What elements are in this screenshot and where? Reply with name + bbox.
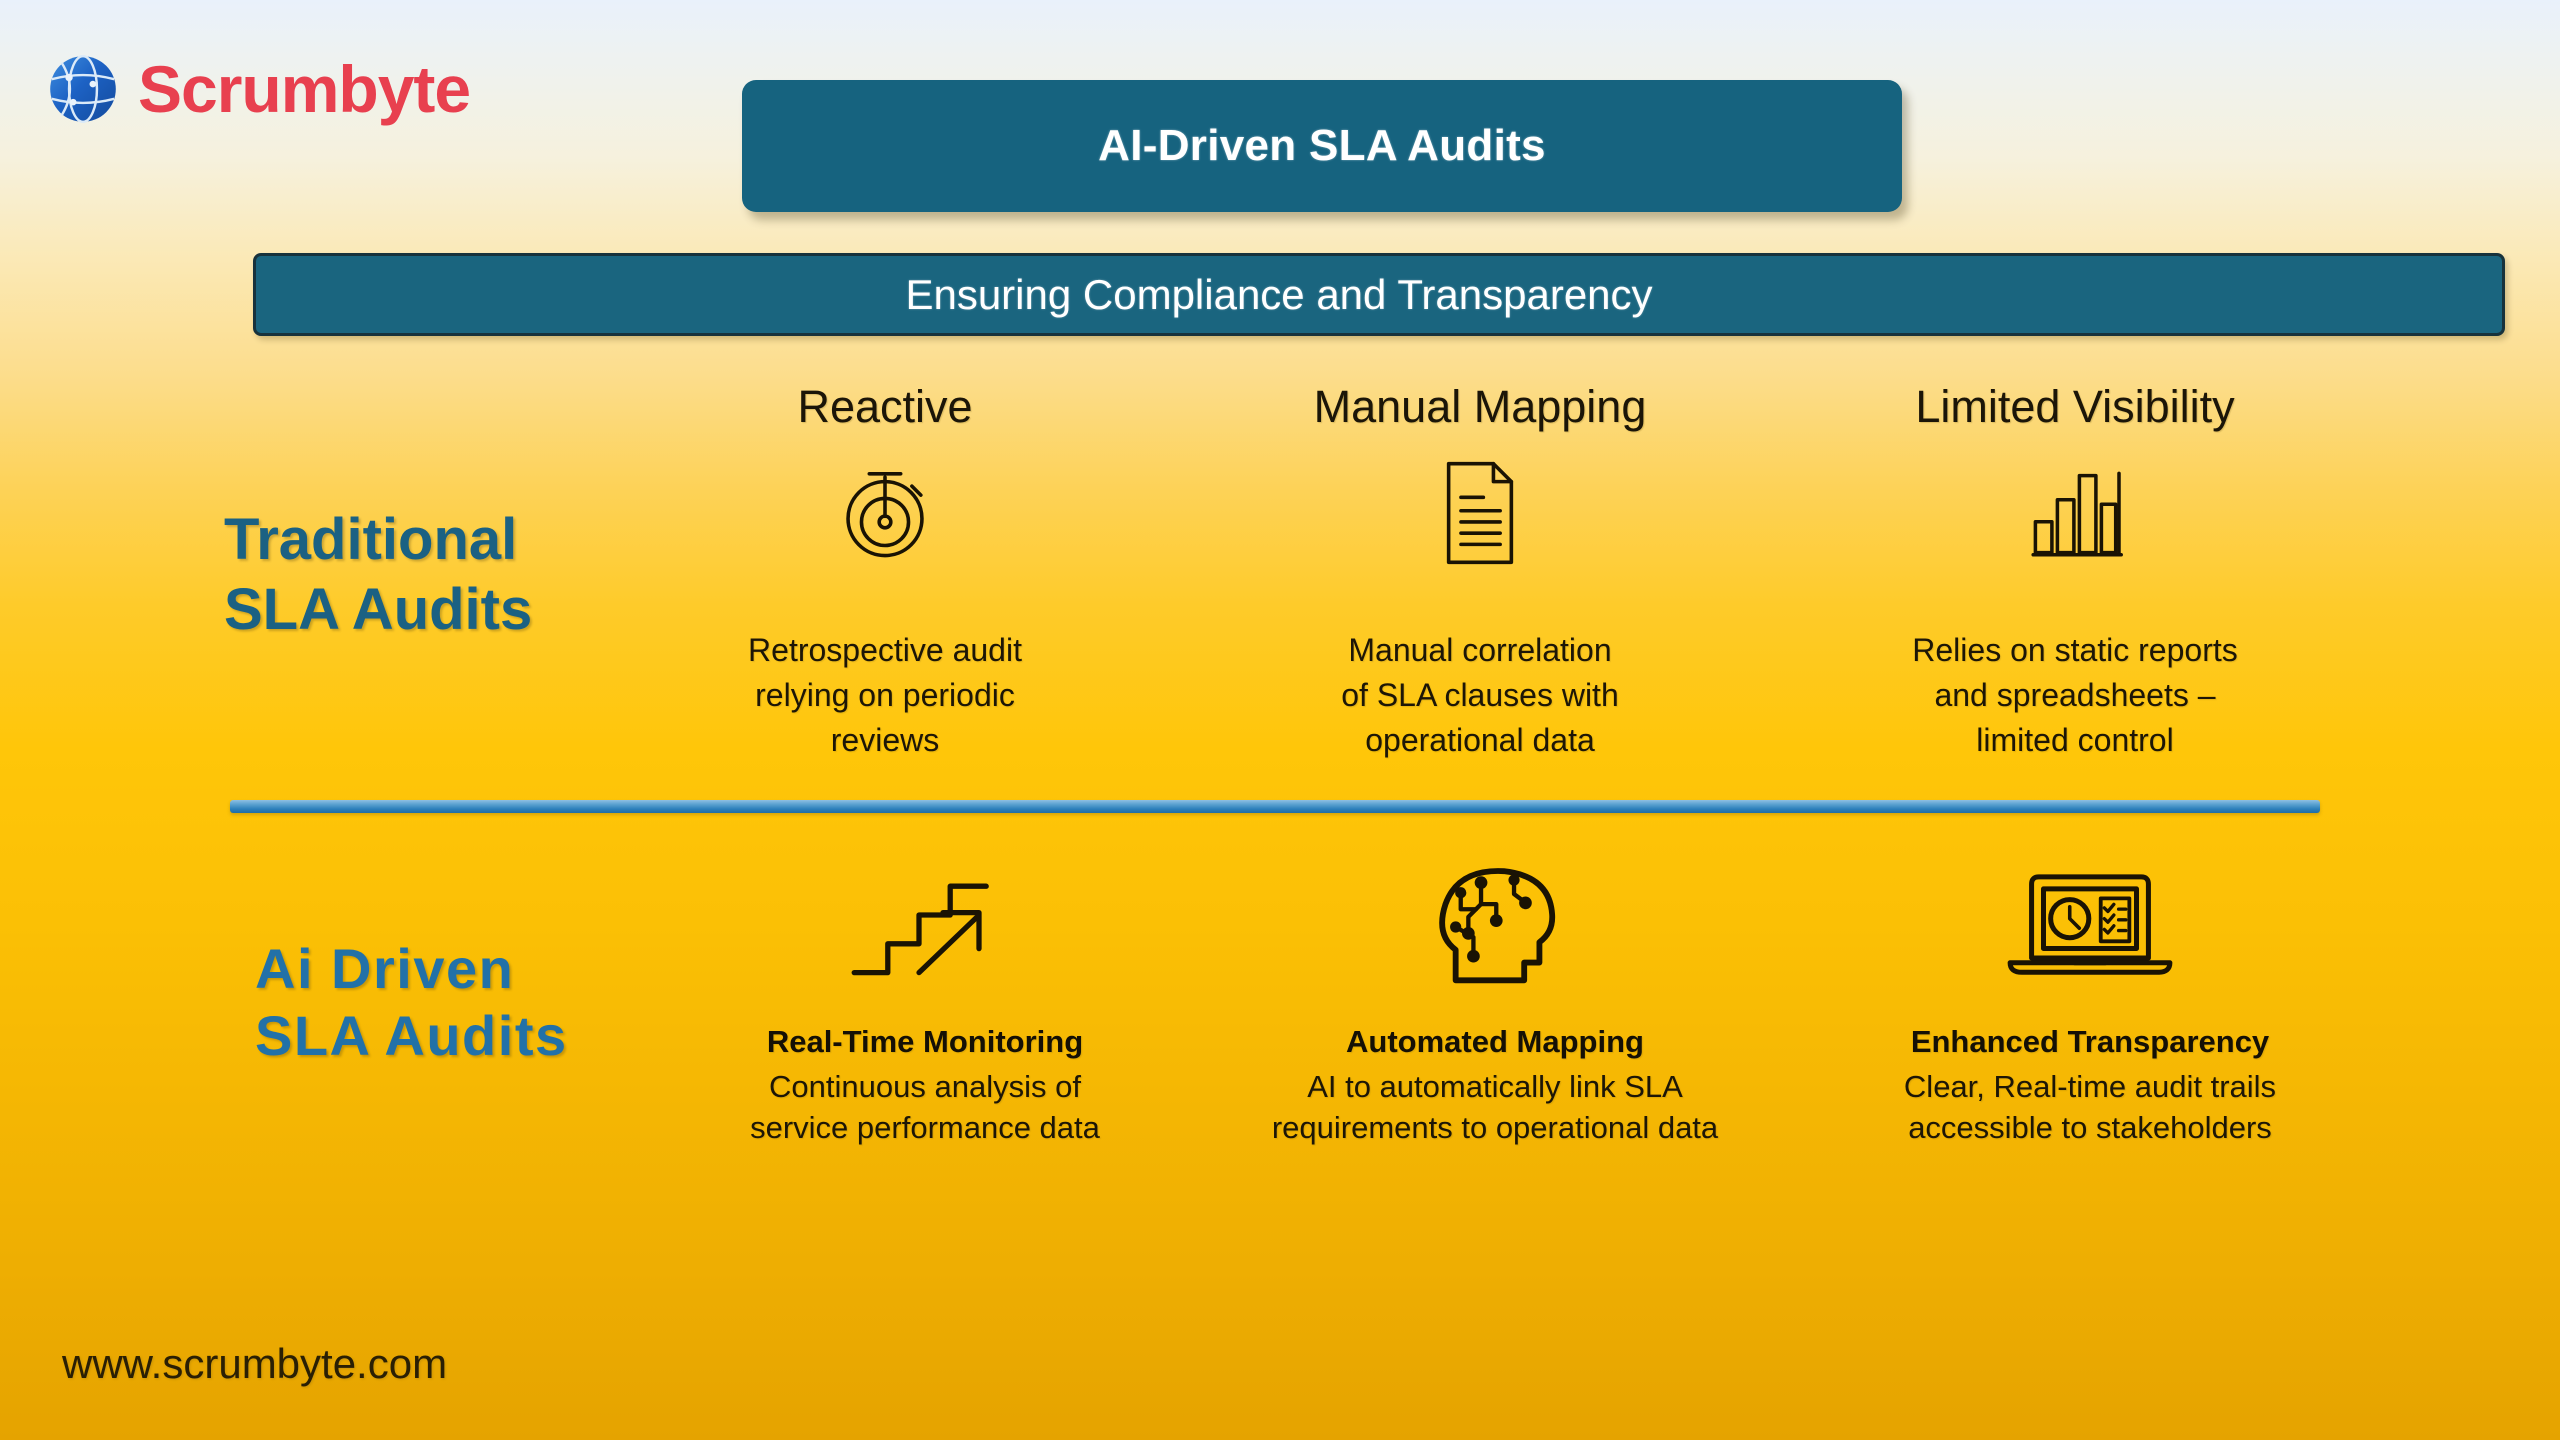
card-limited-visibility-body-line2: and spreadsheets – xyxy=(1912,673,2237,718)
slide-title-banner: AI-Driven SLA Audits xyxy=(742,80,1902,212)
card-enhanced-transparency-body-line2: accessible to stakeholders xyxy=(1904,1107,2276,1148)
card-reactive: Reactive Retrospective audit relying on … xyxy=(650,382,1120,764)
card-real-time-monitoring: Real-Time Monitoring Continuous analysis… xyxy=(665,862,1185,1148)
card-automated-mapping-body-line1: AI to automatically link SLA xyxy=(1272,1066,1718,1107)
globe-network-icon xyxy=(42,48,124,130)
stopwatch-icon xyxy=(829,454,941,572)
card-limited-visibility-heading: Limited Visibility xyxy=(1915,382,2234,432)
card-limited-visibility: Limited Visibility Relies on static repo… xyxy=(1840,382,2310,764)
card-limited-visibility-body-line1: Relies on static reports xyxy=(1912,628,2237,673)
stairs-arrow-up-icon xyxy=(845,862,1005,992)
card-real-time-monitoring-heading: Real-Time Monitoring xyxy=(767,1024,1083,1060)
page-subtitle: Ensuring Compliance and Transparency xyxy=(905,271,1652,319)
page-title: AI-Driven SLA Audits xyxy=(1098,121,1546,171)
row-label-traditional-line1: Traditional xyxy=(224,505,654,575)
card-automated-mapping: Automated Mapping AI to automatically li… xyxy=(1235,862,1755,1148)
card-enhanced-transparency-body: Clear, Real-time audit trails accessible… xyxy=(1904,1066,2276,1148)
card-real-time-monitoring-body-line1: Continuous analysis of xyxy=(750,1066,1100,1107)
card-reactive-body-line3: reviews xyxy=(748,718,1022,763)
card-reactive-body: Retrospective audit relying on periodic … xyxy=(748,628,1022,764)
footer-website[interactable]: www.scrumbyte.com xyxy=(62,1340,447,1388)
card-limited-visibility-body-line3: limited control xyxy=(1912,718,2237,763)
document-lines-icon xyxy=(1428,454,1532,572)
card-reactive-body-line2: relying on periodic xyxy=(748,673,1022,718)
card-enhanced-transparency: Enhanced Transparency Clear, Real-time a… xyxy=(1830,862,2350,1148)
card-automated-mapping-body: AI to automatically link SLA requirement… xyxy=(1272,1066,1718,1148)
ai-brain-head-icon xyxy=(1425,862,1565,992)
card-real-time-monitoring-body: Continuous analysis of service performan… xyxy=(750,1066,1100,1148)
card-real-time-monitoring-body-line2: service performance data xyxy=(750,1107,1100,1148)
row-label-traditional-line2: SLA Audits xyxy=(224,575,654,645)
row-label-traditional: Traditional SLA Audits xyxy=(224,505,654,644)
section-divider xyxy=(230,800,2320,813)
card-limited-visibility-body: Relies on static reports and spreadsheet… xyxy=(1912,628,2237,764)
card-manual-mapping-body-line3: operational data xyxy=(1341,718,1618,763)
row-label-ai-driven-line2: SLA Audits xyxy=(255,1002,705,1069)
brand-name: Scrumbyte xyxy=(138,56,470,122)
card-manual-mapping-heading: Manual Mapping xyxy=(1314,382,1647,432)
brand-logo[interactable]: Scrumbyte xyxy=(42,48,470,130)
laptop-clock-checklist-icon xyxy=(2000,862,2180,992)
card-enhanced-transparency-heading: Enhanced Transparency xyxy=(1911,1024,2269,1060)
card-manual-mapping-body-line1: Manual correlation xyxy=(1341,628,1618,673)
row-label-ai-driven-line1: Ai Driven xyxy=(255,935,705,1002)
card-manual-mapping: Manual Mapping Manual correlation of SLA… xyxy=(1245,382,1715,764)
slide-subtitle-banner: Ensuring Compliance and Transparency xyxy=(253,253,2505,336)
card-automated-mapping-heading: Automated Mapping xyxy=(1346,1024,1644,1060)
card-automated-mapping-body-line2: requirements to operational data xyxy=(1272,1107,1718,1148)
card-reactive-body-line1: Retrospective audit xyxy=(748,628,1022,673)
card-manual-mapping-body: Manual correlation of SLA clauses with o… xyxy=(1341,628,1618,764)
card-manual-mapping-body-line2: of SLA clauses with xyxy=(1341,673,1618,718)
card-enhanced-transparency-body-line1: Clear, Real-time audit trails xyxy=(1904,1066,2276,1107)
row-label-ai-driven: Ai Driven SLA Audits xyxy=(255,935,705,1069)
card-reactive-heading: Reactive xyxy=(797,382,972,432)
bar-chart-icon xyxy=(2020,454,2130,572)
slide-canvas: Scrumbyte AI-Driven SLA Audits Ensuring … xyxy=(0,0,2560,1440)
